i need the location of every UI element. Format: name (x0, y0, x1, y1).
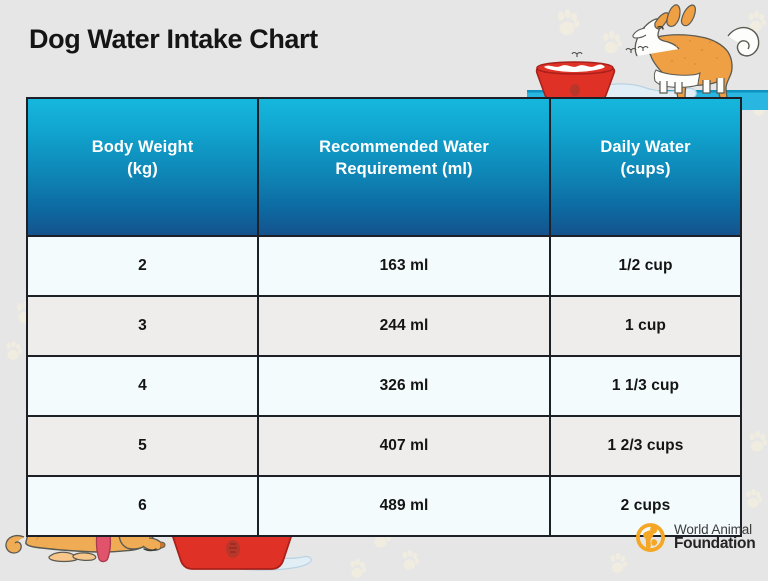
column-header-water-requirement-line2: Requirement (ml) (335, 160, 472, 178)
paw-print-icon (552, 8, 582, 38)
cell-water-ml: 407 ml (258, 416, 550, 476)
cell-body-weight: 2 (27, 236, 258, 296)
column-header-daily-water-line1: Daily Water (600, 138, 690, 156)
paw-print-icon (606, 552, 629, 575)
dog-water-intake-table: Body Weight (kg) Recommended Water Requi… (26, 97, 742, 537)
table-row: 4 326 ml 1 1/3 cup (27, 356, 741, 416)
column-header-water-requirement-line1: Recommended Water (319, 138, 489, 156)
cell-water-ml: 163 ml (258, 236, 550, 296)
paw-print-icon (598, 30, 624, 56)
column-header-water-requirement: Recommended Water Requirement (ml) (258, 98, 550, 236)
page-title: Dog Water Intake Chart (29, 24, 318, 55)
cell-cups: 1 cup (550, 296, 741, 356)
cell-water-ml: 244 ml (258, 296, 550, 356)
paw-print-icon (398, 549, 421, 572)
logo-line-world-animal: World Animal (674, 523, 755, 537)
logo-line-foundation: Foundation (674, 536, 755, 552)
column-header-body-weight: Body Weight (kg) (27, 98, 258, 236)
animal-silhouette-circle-icon (634, 521, 667, 554)
column-header-daily-water: Daily Water (cups) (550, 98, 741, 236)
cell-cups: 1 2/3 cups (550, 416, 741, 476)
paw-print-icon (742, 488, 764, 510)
cell-cups: 1/2 cup (550, 236, 741, 296)
table-row: 2 163 ml 1/2 cup (27, 236, 741, 296)
cell-body-weight: 5 (27, 416, 258, 476)
column-header-daily-water-line2: (cups) (620, 160, 670, 178)
table-header-row: Body Weight (kg) Recommended Water Requi… (27, 98, 741, 236)
cell-water-ml: 326 ml (258, 356, 550, 416)
cell-water-ml: 489 ml (258, 476, 550, 536)
column-header-body-weight-line2: (kg) (127, 160, 158, 178)
cell-body-weight: 6 (27, 476, 258, 536)
column-header-body-weight-line1: Body Weight (92, 138, 194, 156)
cell-body-weight: 4 (27, 356, 258, 416)
cell-cups: 1 1/3 cup (550, 356, 741, 416)
paw-print-icon (2, 340, 24, 362)
table-row: 5 407 ml 1 2/3 cups (27, 416, 741, 476)
logo-text: World Animal Foundation (674, 523, 755, 553)
paw-print-icon (745, 430, 768, 454)
cell-body-weight: 3 (27, 296, 258, 356)
table-row: 3 244 ml 1 cup (27, 296, 741, 356)
paw-print-icon (346, 558, 368, 580)
world-animal-foundation-logo[interactable]: World Animal Foundation (634, 521, 755, 554)
paw-print-icon (748, 96, 768, 118)
paw-print-icon (744, 10, 768, 34)
